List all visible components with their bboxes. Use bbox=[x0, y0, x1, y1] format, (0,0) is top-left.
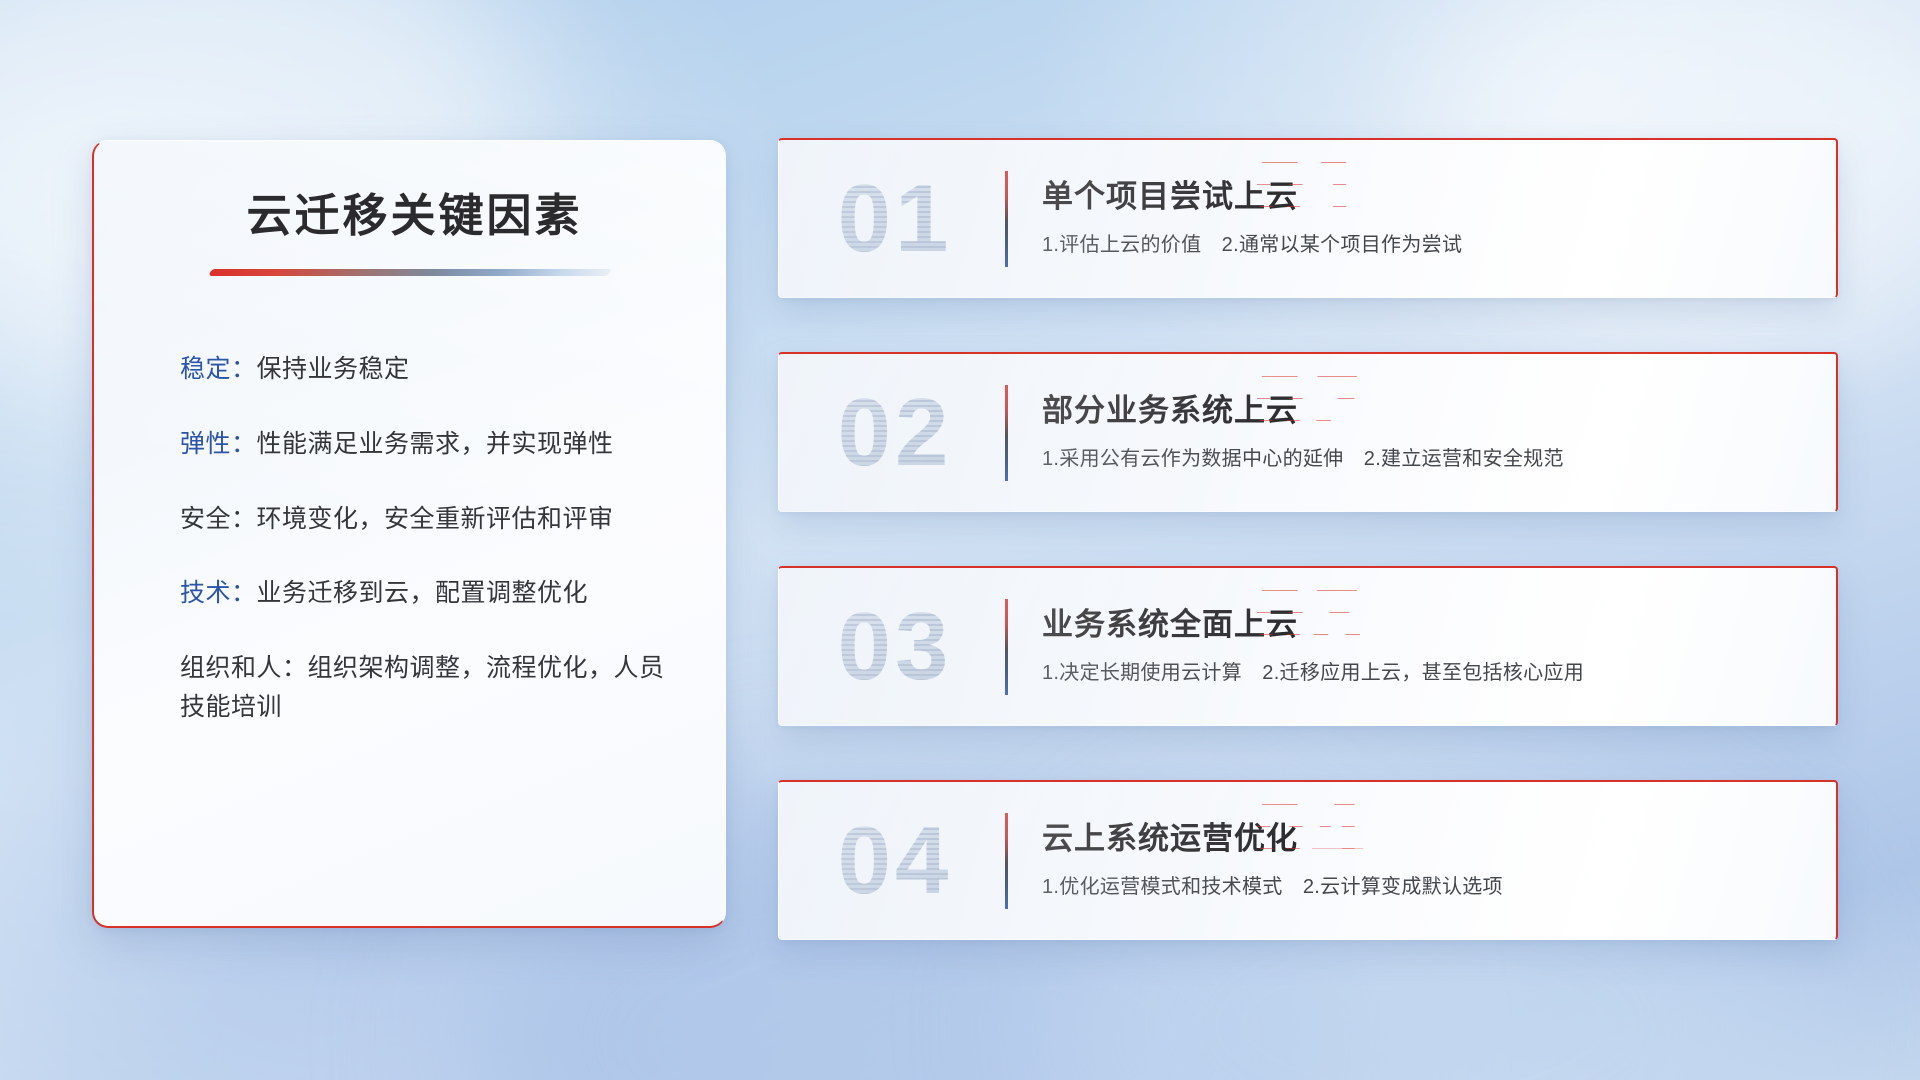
title-underline-rule bbox=[208, 269, 611, 276]
list-item[interactable]: 02 02 部分业务系统上云 1.采用公有云作为数据中心的延伸 2.建立运营和安… bbox=[778, 352, 1838, 512]
step-description: 1.评估上云的价值 2.通常以某个项目作为尝试 bbox=[1042, 231, 1812, 259]
factor-label: 技术： bbox=[180, 579, 257, 607]
slide-canvas: 云迁移关键因素 稳定：保持业务稳定 弹性：性能满足业务需求，并实现弹性 安全：环… bbox=[0, 0, 1920, 1080]
step-body: 部分业务系统上云 1.采用公有云作为数据中心的延伸 2.建立运营和安全规范 bbox=[1042, 392, 1836, 473]
step-divider-icon bbox=[1005, 599, 1008, 695]
step-number-02: 02 bbox=[779, 385, 1005, 481]
step-number-03: 03 bbox=[779, 599, 1005, 695]
step-title: 业务系统全面上云 bbox=[1042, 606, 1812, 645]
list-item: 技术：业务迁移到云，配置调整优化 bbox=[180, 574, 673, 613]
step-title: 云上系统运营优化 bbox=[1042, 820, 1812, 859]
factor-label: 安全： bbox=[180, 505, 257, 533]
list-item: 安全：环境变化，安全重新评估和评审 bbox=[180, 500, 673, 539]
list-item[interactable]: 04 04 云上系统运营优化 1.优化运营模式和技术模式 2.云计算变成默认选项 bbox=[778, 780, 1838, 940]
list-item[interactable]: 03 03 业务系统全面上云 1.决定长期使用云计算 2.迁移应用上云，甚至包括… bbox=[778, 566, 1838, 726]
step-title: 部分业务系统上云 bbox=[1042, 392, 1812, 431]
step-number-01: 01 bbox=[779, 171, 1005, 267]
list-item: 弹性：性能满足业务需求，并实现弹性 bbox=[180, 425, 673, 464]
factor-label: 组织和人： bbox=[180, 654, 308, 682]
panel-inner: 云迁移关键因素 稳定：保持业务稳定 弹性：性能满足业务需求，并实现弹性 安全：环… bbox=[94, 141, 725, 727]
step-body: 业务系统全面上云 1.决定长期使用云计算 2.迁移应用上云，甚至包括核心应用 bbox=[1042, 606, 1836, 687]
step-description: 1.决定长期使用云计算 2.迁移应用上云，甚至包括核心应用 bbox=[1042, 659, 1812, 687]
step-divider-icon bbox=[1005, 171, 1008, 267]
factor-text: 性能满足业务需求，并实现弹性 bbox=[257, 430, 614, 458]
factor-label: 稳定： bbox=[180, 355, 257, 383]
factor-text: 环境变化，安全重新评估和评审 bbox=[257, 505, 614, 533]
step-title: 单个项目尝试上云 bbox=[1042, 178, 1812, 217]
step-number-04: 04 bbox=[779, 813, 1005, 909]
key-factors-panel: 云迁移关键因素 稳定：保持业务稳定 弹性：性能满足业务需求，并实现弹性 安全：环… bbox=[92, 140, 726, 928]
step-divider-icon bbox=[1005, 813, 1008, 909]
list-item[interactable]: 01 01 单个项目尝试上云 1.评估上云的价值 2.通常以某个项目作为尝试 bbox=[778, 138, 1838, 298]
step-description: 1.采用公有云作为数据中心的延伸 2.建立运营和安全规范 bbox=[1042, 445, 1812, 473]
factor-text: 业务迁移到云，配置调整优化 bbox=[257, 579, 589, 607]
factor-label: 弹性： bbox=[180, 430, 257, 458]
step-body: 云上系统运营优化 1.优化运营模式和技术模式 2.云计算变成默认选项 bbox=[1042, 820, 1836, 901]
page-title: 云迁移关键因素 bbox=[146, 189, 673, 243]
step-description: 1.优化运营模式和技术模式 2.云计算变成默认选项 bbox=[1042, 873, 1812, 901]
list-item: 稳定：保持业务稳定 bbox=[180, 350, 673, 389]
step-body: 单个项目尝试上云 1.评估上云的价值 2.通常以某个项目作为尝试 bbox=[1042, 178, 1836, 259]
list-item: 组织和人：组织架构调整，流程优化，人员技能培训 bbox=[180, 649, 673, 727]
step-divider-icon bbox=[1005, 385, 1008, 481]
factor-list: 稳定：保持业务稳定 弹性：性能满足业务需求，并实现弹性 安全：环境变化，安全重新… bbox=[146, 350, 673, 727]
migration-stage-list: 01 01 单个项目尝试上云 1.评估上云的价值 2.通常以某个项目作为尝试 0… bbox=[778, 138, 1838, 994]
factor-text: 保持业务稳定 bbox=[257, 355, 410, 383]
